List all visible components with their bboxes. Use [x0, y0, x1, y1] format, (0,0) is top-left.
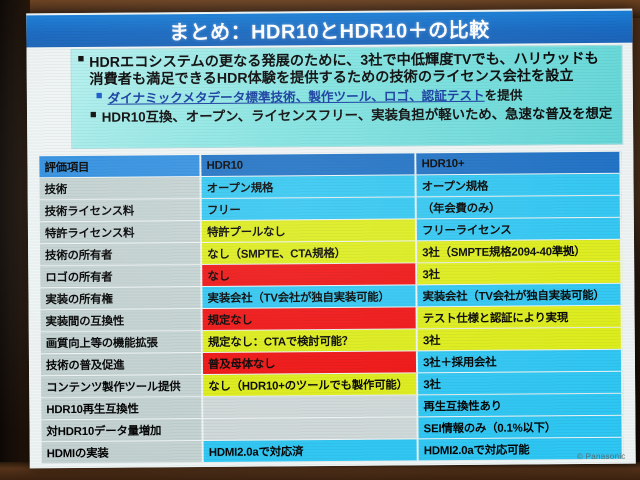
cell-hdr10: オープン規格 [202, 175, 417, 198]
table-body: 技術オープン規格オープン規格技術ライセンス料フリー（年会費のみ）特許ライセンス料… [40, 174, 624, 464]
column-header-hdr10: HDR10 [201, 153, 416, 176]
slide-title-bar: まとめ：HDR10とHDR10＋の比較 [26, 11, 632, 48]
cell-hdr10: フリー [202, 197, 417, 220]
lead-summary-box: ■ HDRエコシステムの更なる発展のために、3社で中低輝度TVでも、ハリウッドも… [71, 45, 624, 149]
cell-item: HDMIの実装 [42, 441, 204, 463]
cell-hdr10plus: 3社＋採用会社 [418, 350, 623, 373]
presentation-slide: まとめ：HDR10とHDR10＋の比較 ■ HDRエコシステムの更なる発展のため… [26, 9, 636, 469]
cell-hdr10plus: オープン規格 [417, 174, 622, 197]
photo-of-projection-screen: まとめ：HDR10とHDR10＋の比較 ■ HDRエコシステムの更なる発展のため… [0, 0, 640, 480]
bullet-square-icon: ■ [78, 54, 85, 65]
cell-hdr10: 普及母体なし [203, 351, 418, 374]
column-header-item: 評価項目 [39, 155, 201, 177]
table-row: HDMIの実装HDMI2.0aで対応済HDMI2.0aで対応可能 [42, 438, 624, 464]
column-header-hdr10plus: HDR10+ [416, 152, 621, 175]
lead-bullet-2-text: ダイナミックメタデータ標準技術、製作ツール、ロゴ、認証テストを提供 [107, 87, 522, 106]
lead-bullet-1-line-2: 消費者も満足できるHDR体験を提供するための技術のライセンス会社を設立 [89, 68, 599, 89]
lead-bullet-2-underlined: ダイナミックメタデータ標準技術、製作ツール、ロゴ、認証テスト [107, 89, 484, 106]
cell-item: ロゴの所有者 [40, 265, 202, 287]
copyright-watermark: © Panasonic [577, 452, 626, 461]
room-wall-left [0, 0, 30, 480]
cell-hdr10: 特許プールなし [202, 219, 417, 242]
cell-hdr10: 実装会社（TV会社が独自実装可能） [203, 285, 418, 308]
cell-hdr10plus: テスト仕様と認証により実現 [418, 306, 623, 329]
cell-hdr10: HDMI2.0aで対応済 [204, 439, 419, 462]
lead-bullet-1-text: HDRエコシステムの更なる発展のために、3社で中低輝度TVでも、ハリウッドも 消… [89, 51, 599, 89]
lead-bullet-2-tail: を提供 [485, 88, 523, 102]
cell-hdr10plus: 3社 [418, 328, 623, 351]
cell-item: 技術の所有者 [40, 243, 202, 265]
cell-item: 技術 [40, 177, 202, 199]
lead-bullet-1: ■ HDRエコシステムの更なる発展のために、3社で中低輝度TVでも、ハリウッドも… [78, 50, 616, 89]
cell-item: コンテンツ製作ツール提供 [41, 375, 203, 397]
cell-hdr10: なし [202, 263, 417, 286]
comparison-table: 評価項目 HDR10 HDR10+ 技術オープン規格オープン規格技術ライセンス料… [39, 151, 623, 465]
cell-hdr10plus: 実装会社（TV会社が独自実装可能） [418, 284, 623, 307]
cell-hdr10 [204, 417, 419, 440]
cell-hdr10plus: 再生互換性あり [418, 394, 623, 417]
cell-hdr10: なし（SMPTE、CTA規格） [202, 241, 417, 264]
cell-item: 技術ライセンス料 [40, 199, 202, 221]
cell-item: 対HDR10データ量増加 [41, 419, 203, 441]
projection-screen: まとめ：HDR10とHDR10＋の比較 ■ HDRエコシステムの更なる発展のため… [26, 9, 636, 469]
lead-bullet-3: ■ HDR10互換、オープン、ライセンスフリー、実装負担が軽いため、急速な普及を… [90, 106, 616, 126]
lead-bullet-2: ■ ダイナミックメタデータ標準技術、製作ツール、ロゴ、認証テストを提供 [96, 87, 616, 107]
cell-hdr10: 規定なし [203, 307, 418, 330]
lead-bullet-3-text: HDR10互換、オープン、ライセンスフリー、実装負担が軽いため、急速な普及を想定 [102, 106, 613, 126]
cell-item: 特許ライセンス料 [40, 221, 202, 243]
cell-item: 実装の所有権 [40, 287, 202, 309]
slide-title: まとめ：HDR10とHDR10＋の比較 [169, 13, 490, 45]
cell-hdr10plus: SEI情報のみ（0.1%以下） [419, 416, 624, 439]
bullet-square-icon: ■ [96, 91, 103, 102]
cell-item: 技術の普及促進 [41, 353, 203, 375]
cell-item: 実装間の互換性 [41, 309, 203, 331]
cell-item: HDR10再生互換性 [41, 397, 203, 419]
cell-hdr10plus: 3社 [418, 372, 623, 395]
cell-hdr10 [203, 395, 418, 418]
bullet-square-icon: ■ [90, 110, 97, 121]
cell-hdr10: なし（HDR10+のツールでも製作可能） [203, 373, 418, 396]
cell-item: 画質向上等の機能拡張 [41, 331, 203, 353]
cell-hdr10plus: 3社（SMPTE規格2094-40準拠） [417, 240, 622, 263]
cell-hdr10: 規定なし：CTAで検討可能？ [203, 329, 418, 352]
cell-hdr10plus: （年会費のみ） [417, 196, 622, 219]
cell-hdr10plus: 3社 [417, 262, 622, 285]
cell-hdr10plus: フリーライセンス [417, 218, 622, 241]
